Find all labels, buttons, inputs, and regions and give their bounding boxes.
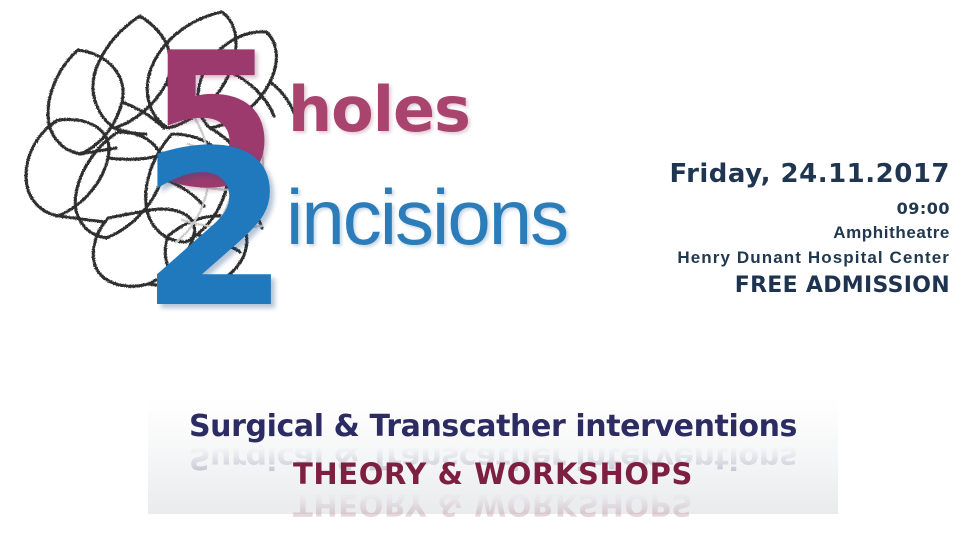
word-holes: holes <box>288 79 470 141</box>
event-date: Friday, 24.11.2017 <box>610 160 950 190</box>
logo-lockup: 5 2 holes incisions <box>0 0 640 330</box>
event-details: Friday, 24.11.2017 09:00 Amphitheatre He… <box>610 160 950 301</box>
subtitle-main-line: Surgical & Transcather interventions <box>148 412 838 442</box>
event-time: 09:00 <box>610 197 950 221</box>
subtitle-sub-line: THEORY & WORKSHOPS <box>148 460 838 489</box>
event-venue: Amphitheatre <box>610 221 950 246</box>
word-incisions: incisions <box>286 178 567 256</box>
event-poster: 5 2 holes incisions Friday, 24.11.2017 0… <box>0 0 980 551</box>
subtitle-band: Surgical & Transcather interventions Sur… <box>148 398 838 514</box>
subtitle-sub-reflection: THEORY & WORKSHOPS <box>148 490 838 519</box>
numeral-two: 2 <box>140 122 284 337</box>
event-admission: FREE ADMISSION <box>610 272 950 301</box>
event-organization: Henry Dunant Hospital Center <box>610 246 950 271</box>
